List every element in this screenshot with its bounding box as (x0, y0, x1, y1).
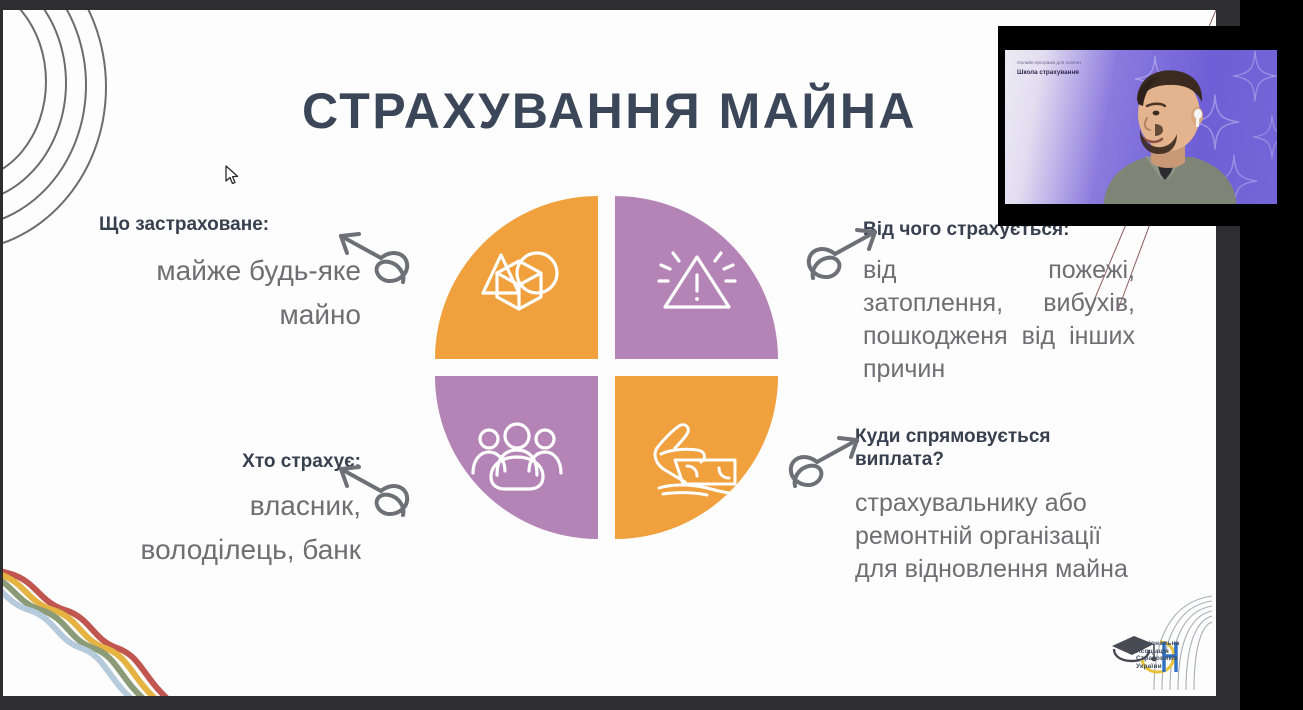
quadrant-who-insures (435, 376, 598, 539)
decor-wave-lines (3, 552, 173, 696)
screen-share-window: СТРАХУВАННЯ МАЙНА (0, 0, 1303, 710)
text-block-who-insures: Хто страхує: власник, володілець, банк (121, 450, 361, 572)
quadrant-payout (615, 376, 778, 539)
block-heading-what: Що застраховане: (99, 213, 361, 237)
block-body-payout: страхувальнику або ремонтній організації… (855, 487, 1143, 586)
people-group-icon (467, 419, 567, 497)
webcam-overlay[interactable]: Онлайн-програма для освітян Школа страху… (998, 26, 1284, 226)
arrow-doodle-left-bottom-icon (333, 453, 415, 525)
sparkle-icon (1253, 114, 1277, 160)
block-body-who: власник, володілець, банк (121, 484, 361, 572)
pinwheel-graphic (435, 196, 780, 546)
text-block-payout: Куди спрямовується виплата? страхувальни… (855, 425, 1143, 586)
window-frame-top (0, 0, 1240, 10)
text-block-risks: Від чого страхується: від пожежі, затопл… (863, 218, 1135, 386)
logo-text-line-3: Страховиків (1136, 655, 1208, 662)
logo-text: Національна Асоціація Страховиків Україн… (1136, 640, 1208, 670)
logo-text-line-4: України (1136, 663, 1208, 670)
mouse-pointer-icon (225, 165, 241, 187)
webcam-video: Онлайн-програма для освітян Школа страху… (1005, 50, 1277, 204)
hand-money-icon (645, 414, 749, 502)
quadrant-risks (615, 196, 778, 359)
block-heading-payout: Куди спрямовується виплата? (855, 425, 1143, 471)
presenter-video-figure (1085, 58, 1255, 204)
warning-triangle-icon (651, 239, 743, 317)
window-frame-bottom (0, 696, 1240, 710)
quadrant-what-insured (435, 196, 598, 359)
block-body-what: майже будь-яке майно (99, 249, 361, 337)
block-body-from: від пожежі, затоплення, вибухів, пошкодж… (863, 254, 1135, 386)
logo-text-line-1: Національна (1136, 640, 1208, 647)
arrow-doodle-right-top-icon (801, 216, 883, 288)
arrow-doodle-left-top-icon (333, 220, 415, 292)
arrow-doodle-right-bottom-icon (783, 424, 865, 496)
block-heading-who: Хто страхує: (121, 450, 361, 474)
text-block-what-insured: Що застраховане: майже будь-яке майно (99, 213, 361, 337)
box-shapes-icon (461, 237, 573, 319)
